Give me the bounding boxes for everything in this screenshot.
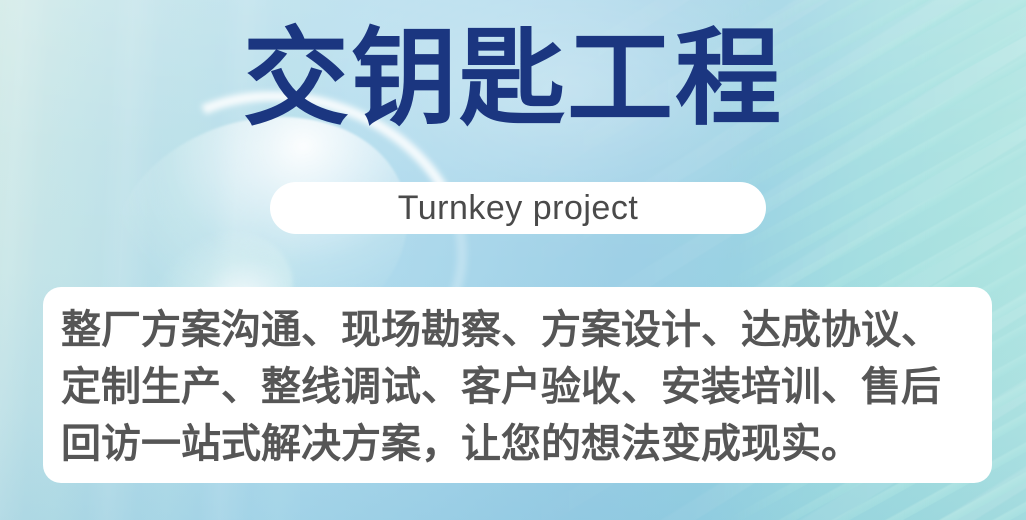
description-line-3: 回访一站式解决方案，让您的想法变成现实。 xyxy=(61,416,974,473)
description-line-1: 整厂方案沟通、现场勘察、方案设计、达成协议、 xyxy=(61,302,974,359)
description-card: 整厂方案沟通、现场勘察、方案设计、达成协议、 定制生产、整线调试、客户验收、安装… xyxy=(43,287,992,483)
description-line-2: 定制生产、整线调试、客户验收、安装培训、售后 xyxy=(61,359,974,416)
subtitle-pill: Turnkey project xyxy=(270,182,766,234)
banner-content: 交钥匙工程 Turnkey project 整厂方案沟通、现场勘察、方案设计、达… xyxy=(0,0,1026,520)
promo-banner: 交钥匙工程 Turnkey project 整厂方案沟通、现场勘察、方案设计、达… xyxy=(0,0,1026,520)
banner-headline: 交钥匙工程 xyxy=(0,14,1026,144)
subtitle-text: Turnkey project xyxy=(398,190,639,226)
